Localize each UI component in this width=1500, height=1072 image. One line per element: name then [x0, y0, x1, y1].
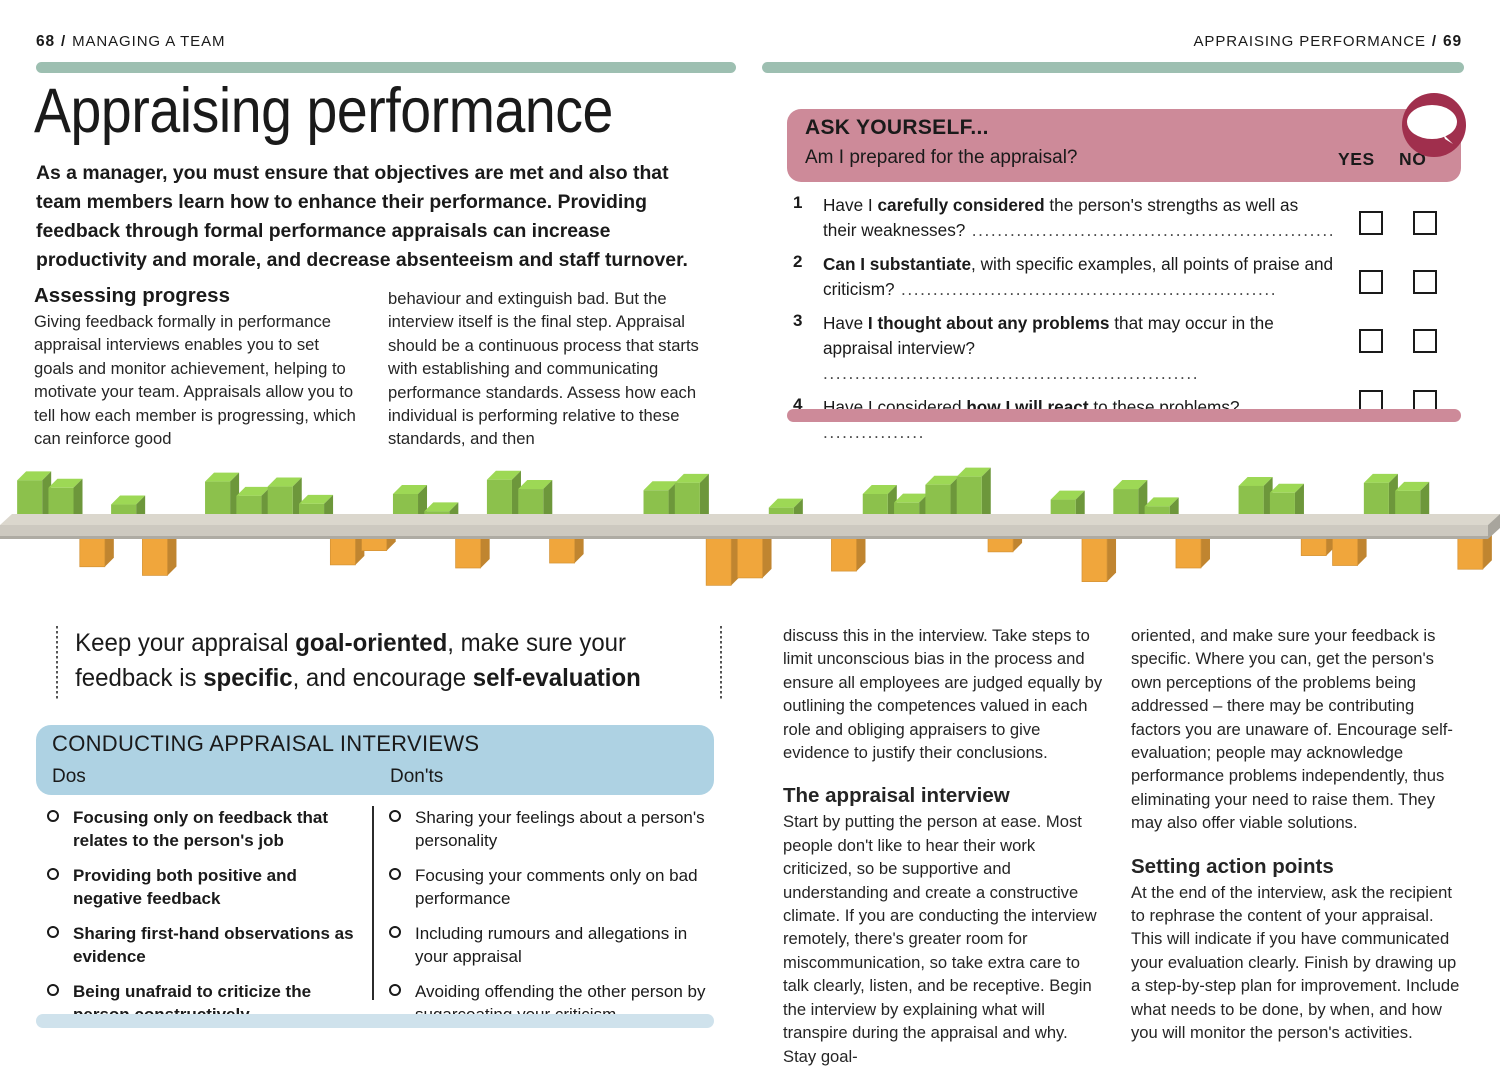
list-item-label: Focusing your comments only on bad perfo…	[415, 866, 698, 908]
page-title: Appraising performance	[34, 75, 613, 147]
circle-bullet-icon	[47, 810, 59, 822]
question-number: 3	[793, 311, 813, 331]
question-text: Have I thought about any problems that m…	[823, 311, 1336, 386]
book-spread-page: 68/MANAGING A TEAM APPRAISING PERFORMANC…	[0, 0, 1500, 1072]
question-row: 1 Have I carefully considered the person…	[793, 193, 1461, 243]
section-label-right: APPRAISING PERFORMANCE	[1194, 33, 1426, 50]
donts-list: Sharing your feelings about a person's p…	[388, 806, 718, 1038]
list-item: Including rumours and allegations in you…	[388, 922, 718, 968]
question-text: Can I substantiate, with specific exampl…	[823, 252, 1336, 302]
list-item-label: Including rumours and allegations in you…	[415, 924, 687, 966]
list-item: Sharing first-hand observations as evide…	[46, 922, 364, 968]
circle-bullet-icon	[47, 984, 59, 996]
assessing-progress-body-b: behaviour and extinguish bad. But the in…	[388, 287, 713, 451]
question-number: 1	[793, 193, 813, 213]
ask-yourself-bottom-rule	[787, 409, 1461, 422]
ask-yourself-subtitle: Am I prepared for the appraisal?	[805, 147, 1078, 169]
slash-right: /	[1432, 33, 1437, 50]
bar-chart-illustration	[0, 430, 1500, 610]
donts-column-header: Don'ts	[390, 766, 443, 788]
circle-bullet-icon	[47, 926, 59, 938]
list-item-label: Sharing first-hand observations as evide…	[73, 924, 354, 966]
checkbox-no[interactable]	[1413, 329, 1437, 353]
list-item-label: Focusing only on feedback that relates t…	[73, 808, 328, 850]
dos-column-header: Dos	[52, 766, 86, 788]
yes-column-header: YES	[1338, 149, 1375, 170]
assessing-progress-heading: Assessing progress	[34, 284, 359, 308]
appraisal-interview-body: Start by putting the person at ease. Mos…	[783, 810, 1105, 1067]
setting-action-points-heading: Setting action points	[1131, 855, 1461, 879]
pullquote-part3: , and encourage	[293, 664, 473, 692]
ask-yourself-title: ASK YOURSELF...	[805, 116, 989, 140]
circle-bullet-icon	[389, 984, 401, 996]
question-bold: I thought about any problems	[868, 313, 1110, 333]
question-row: 2 Can I substantiate, with specific exam…	[793, 252, 1461, 302]
lower-column-one-continued: discuss this in the interview. Take step…	[783, 624, 1105, 764]
standfirst-paragraph: As a manager, you must ensure that objec…	[36, 159, 708, 275]
lower-column-one: discuss this in the interview. Take step…	[783, 624, 1105, 1068]
question-row: 3 Have I thought about any problems that…	[793, 311, 1461, 386]
question-pre: Have I	[823, 195, 877, 215]
running-head-right: APPRAISING PERFORMANCE/69	[1194, 33, 1462, 51]
question-pre: Have	[823, 313, 868, 333]
setting-action-points-body: At the end of the interview, ask the rec…	[1131, 881, 1461, 1045]
slash-left: /	[61, 33, 66, 50]
pullquote-rule-right	[720, 626, 722, 700]
page-number-right: 69	[1443, 33, 1462, 50]
checkbox-no[interactable]	[1413, 270, 1437, 294]
circle-bullet-icon	[389, 810, 401, 822]
list-item: Focusing your comments only on bad perfo…	[388, 864, 718, 910]
checkbox-no[interactable]	[1413, 211, 1437, 235]
question-leader-dots: ........................................…	[965, 220, 1335, 240]
pullquote-bold3: self-evaluation	[473, 664, 641, 692]
question-bold: Can I substantiate	[823, 254, 971, 274]
question-leader-dots: ........................................…	[823, 363, 1199, 383]
question-leader-dots: ........................................…	[895, 279, 1278, 299]
running-head-left: 68/MANAGING A TEAM	[36, 33, 225, 51]
header-rule-left	[36, 62, 736, 73]
checkbox-yes[interactable]	[1359, 329, 1383, 353]
list-item-label: Providing both positive and negative fee…	[73, 866, 297, 908]
lower-column-two-continued: oriented, and make sure your feedback is…	[1131, 624, 1461, 835]
assessing-progress-column-b: behaviour and extinguish bad. But the in…	[388, 287, 713, 451]
section-label-left: MANAGING A TEAM	[72, 33, 225, 50]
checkbox-yes[interactable]	[1359, 270, 1383, 294]
checkbox-yes[interactable]	[1359, 211, 1383, 235]
pullquote-part1: Keep your appraisal	[75, 629, 295, 657]
assessing-progress-column-a: Assessing progress Giving feedback forma…	[34, 284, 359, 450]
appraisal-interview-heading: The appraisal interview	[783, 784, 1105, 808]
pullquote-bold1: goal-oriented	[295, 629, 447, 657]
list-item: Focusing only on feedback that relates t…	[46, 806, 364, 852]
circle-bullet-icon	[47, 868, 59, 880]
speech-bubble-circle-icon	[1401, 92, 1467, 158]
page-number-left: 68	[36, 33, 55, 50]
header-rule-right	[762, 62, 1464, 73]
circle-bullet-icon	[389, 926, 401, 938]
pullquote-bold2: specific	[203, 664, 292, 692]
conducting-interviews-bottom-rule	[36, 1014, 714, 1028]
dos-donts-divider	[372, 806, 374, 1000]
list-item: Sharing your feelings about a person's p…	[388, 806, 718, 852]
pullquote: Keep your appraisal goal-oriented, make …	[54, 622, 688, 700]
circle-bullet-icon	[389, 868, 401, 880]
question-bold: carefully considered	[877, 195, 1044, 215]
ask-yourself-box: ASK YOURSELF... Am I prepared for the ap…	[787, 109, 1461, 182]
list-item: Providing both positive and negative fee…	[46, 864, 364, 910]
lower-column-two: oriented, and make sure your feedback is…	[1131, 624, 1461, 1045]
list-item-label: Sharing your feelings about a person's p…	[415, 808, 705, 850]
conducting-interviews-title: CONDUCTING APPRAISAL INTERVIEWS	[52, 731, 479, 757]
dos-list: Focusing only on feedback that relates t…	[46, 806, 364, 1038]
question-text: Have I carefully considered the person's…	[823, 193, 1336, 243]
conducting-interviews-box: CONDUCTING APPRAISAL INTERVIEWS Dos Don'…	[36, 725, 714, 795]
question-number: 2	[793, 252, 813, 272]
